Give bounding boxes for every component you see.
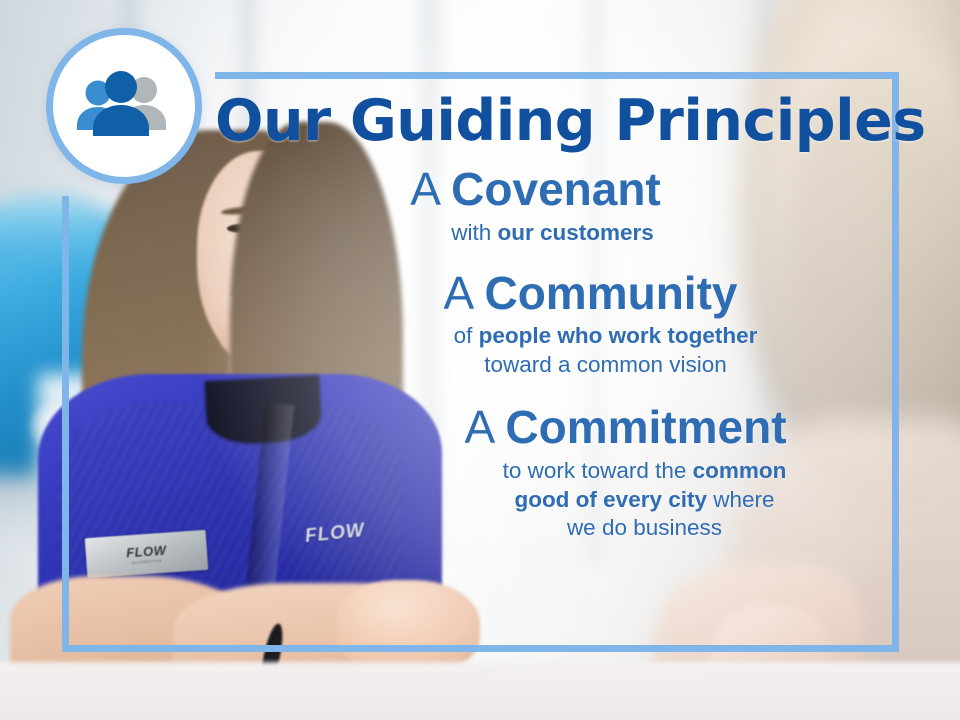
principle-article: A bbox=[444, 267, 472, 319]
car-roof bbox=[0, 194, 106, 266]
principle-article: A bbox=[410, 163, 438, 215]
principle-heading: A Community bbox=[289, 270, 892, 318]
subtext-line: good of every city where bbox=[397, 486, 892, 515]
white-desk-surface bbox=[0, 662, 960, 720]
principle-keyword: Commitment bbox=[505, 401, 786, 453]
principle-heading: A Commitment bbox=[359, 404, 892, 452]
subtext-run: to work toward the bbox=[503, 458, 693, 483]
principle-keyword: Covenant bbox=[451, 163, 661, 215]
subtext-run: with bbox=[451, 220, 497, 245]
principle-article: A bbox=[464, 401, 492, 453]
principle-subtext: to work toward the common good of every … bbox=[359, 457, 892, 543]
principle-subtext: of people who work together toward a com… bbox=[289, 322, 892, 380]
subtext-run: of bbox=[454, 323, 479, 348]
subtext-run: where bbox=[707, 487, 775, 512]
principle-subtext: with our customers bbox=[215, 219, 856, 248]
principle-keyword: Community bbox=[484, 267, 737, 319]
people-group-badge bbox=[46, 28, 202, 184]
subtext-line: toward a common vision bbox=[319, 351, 892, 380]
subtext-run-bold: people who work together bbox=[479, 323, 758, 348]
subtext-run: we do business bbox=[567, 515, 722, 540]
subtext-run-bold: common bbox=[693, 458, 787, 483]
subtext-line: of people who work together bbox=[319, 322, 892, 351]
principle-community: A Community of people who work together … bbox=[215, 270, 892, 380]
subtext-line: to work toward the common bbox=[397, 457, 892, 486]
principle-heading: A Covenant bbox=[215, 166, 856, 214]
subtext-run-bold: our customers bbox=[497, 220, 653, 245]
subtext-line: we do business bbox=[397, 514, 892, 543]
subtext-line: with our customers bbox=[249, 219, 856, 248]
guiding-principles-graphic: FLOW AUTOMOTIVE FLOW bbox=[0, 0, 960, 720]
subtext-run-bold: good of every city bbox=[514, 487, 707, 512]
principle-commitment: A Commitment to work toward the common g… bbox=[215, 404, 892, 543]
page-title: Our Guiding Principles bbox=[215, 93, 892, 150]
text-content: Our Guiding Principles A Covenant with o… bbox=[215, 79, 892, 645]
subtext-run: toward a common vision bbox=[484, 352, 727, 377]
name-badge-subtext: AUTOMOTIVE bbox=[132, 558, 163, 565]
people-group-icon bbox=[72, 70, 176, 142]
principle-covenant: A Covenant with our customers bbox=[215, 166, 892, 248]
